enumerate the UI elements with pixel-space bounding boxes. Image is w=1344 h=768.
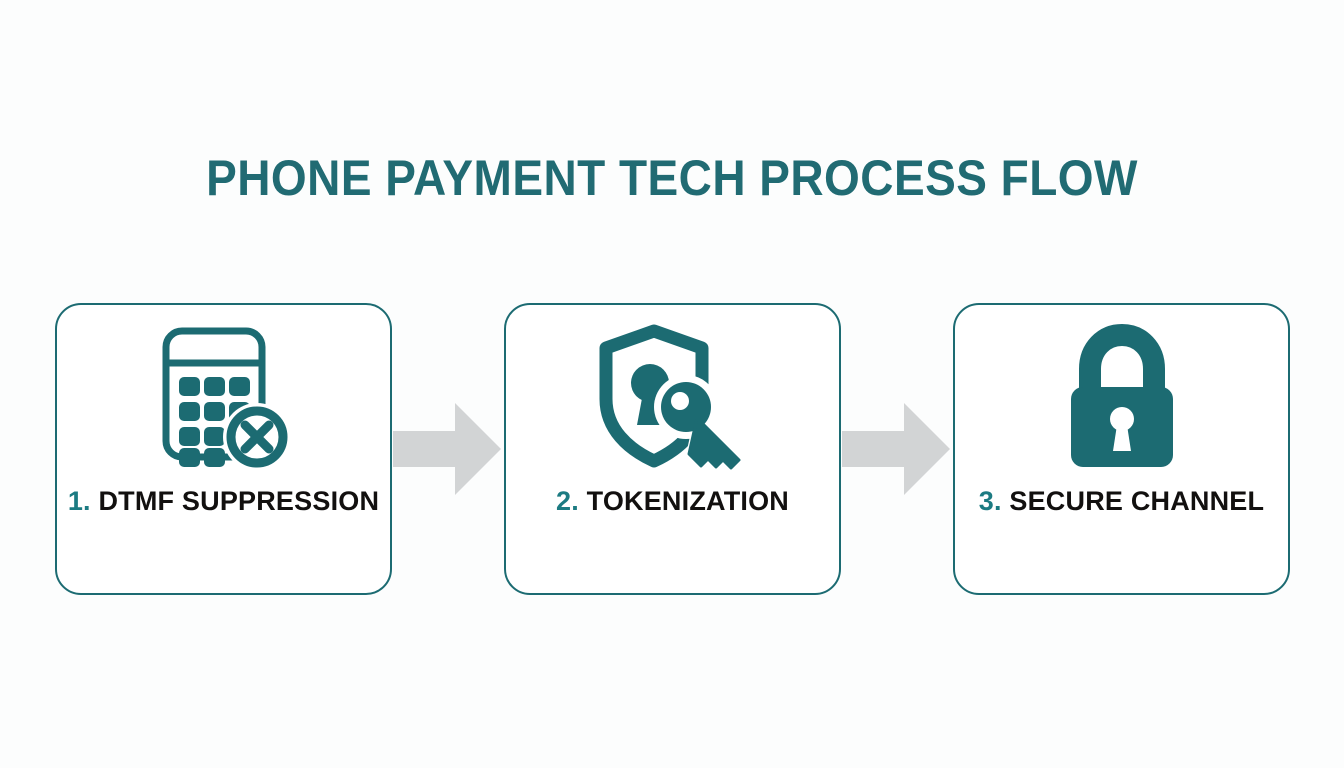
step-label: 2. TOKENIZATION (556, 486, 789, 517)
keypad-blocked-icon (57, 305, 390, 480)
step-label: 1. DTMF SUPPRESSION (68, 486, 379, 517)
slide-canvas: PHONE PAYMENT TECH PROCESS FLOW (0, 0, 1344, 768)
step-card-tokenization[interactable]: 2. TOKENIZATION (504, 303, 841, 595)
step-number: 2. (556, 486, 579, 516)
shield-key-icon (506, 305, 839, 480)
padlock-icon (955, 305, 1288, 480)
step-title: SECURE CHANNEL (1009, 486, 1264, 516)
process-flow: 1. DTMF SUPPRESSION (55, 302, 1290, 596)
page-title: PHONE PAYMENT TECH PROCESS FLOW (54, 148, 1290, 208)
step-card-dtmf-suppression[interactable]: 1. DTMF SUPPRESSION (55, 303, 392, 595)
step-title: TOKENIZATION (587, 486, 789, 516)
step-label: 3. SECURE CHANNEL (979, 486, 1264, 517)
arrow-right-icon (842, 396, 952, 502)
step-number: 1. (68, 486, 91, 516)
arrow-right-icon (393, 396, 503, 502)
step-card-secure-channel[interactable]: 3. SECURE CHANNEL (953, 303, 1290, 595)
step-number: 3. (979, 486, 1002, 516)
step-title: DTMF SUPPRESSION (98, 486, 379, 516)
